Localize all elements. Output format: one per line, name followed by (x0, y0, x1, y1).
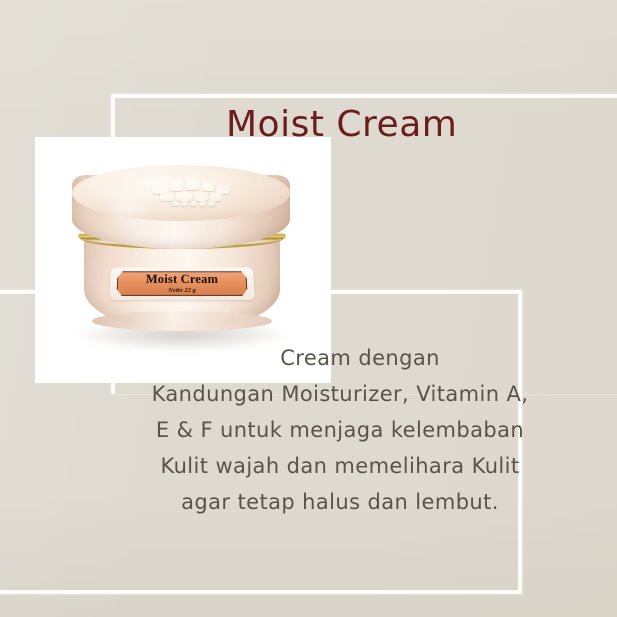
jar-front-label: Moist Cream Netto 22 g (109, 267, 255, 300)
lid-embossed-logo-icon (150, 177, 232, 207)
cream-jar-illustration: Moist Cream Netto 22 g (62, 165, 300, 351)
jar-lid-top (72, 165, 290, 221)
description-line-1: Cream dengan (140, 340, 580, 376)
description-line-5: agar tetap halus dan lembut. (100, 484, 580, 520)
jar-label-netto: Netto 22 g (168, 287, 196, 293)
product-description: Cream dengan Kandungan Moisturizer, Vita… (100, 340, 580, 520)
jar-bottom-edge (92, 311, 272, 331)
jar-label-product-name: Moist Cream (146, 273, 219, 285)
description-line-2: Kandungan Moisturizer, Vitamin A, (100, 376, 580, 412)
description-line-3: E & F untuk menjaga kelembaban (100, 412, 580, 448)
product-poster: Moist Cream (0, 0, 617, 617)
lid-highlight (102, 183, 156, 229)
description-line-4: Kulit wajah dan memelihara Kulit (100, 448, 580, 484)
jar-label-plate: Moist Cream Netto 22 g (116, 271, 247, 296)
